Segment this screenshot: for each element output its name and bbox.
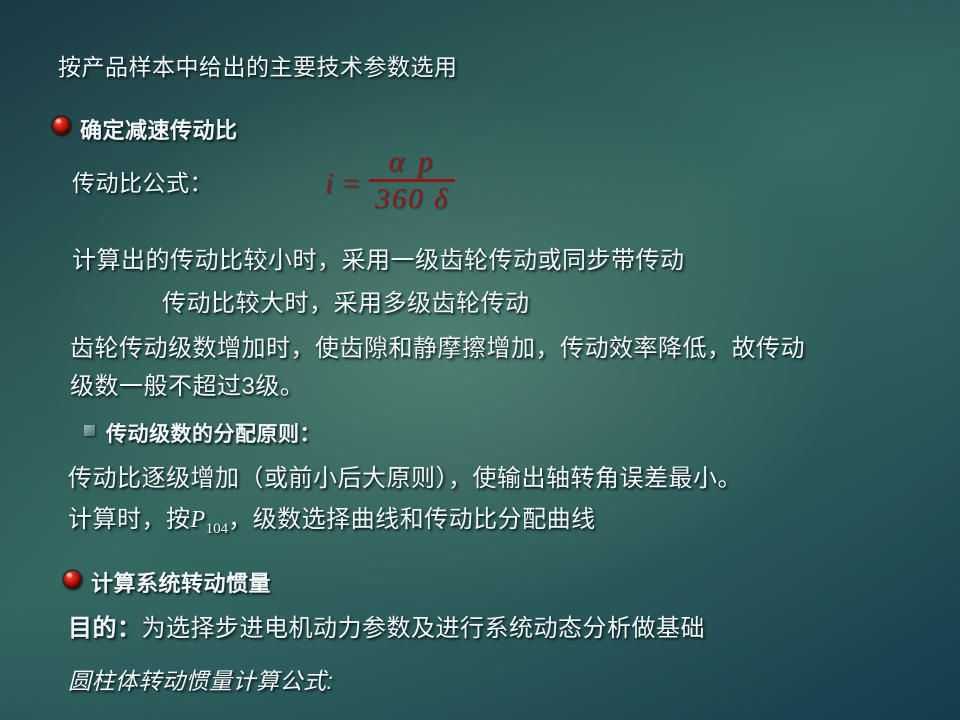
presentation-slide: 按产品样本中给出的主要技术参数选用 确定减速传动比 传动比公式： i = α p… <box>0 0 960 720</box>
section-1-line-3: 齿轮传动级数增加时，使齿隙和静摩擦增加，传动效率降低，故传动 <box>70 328 805 363</box>
purpose-label: 目的： <box>68 615 142 642</box>
red-sphere-bullet-icon-1 <box>53 117 70 134</box>
sub-section-heading: 传动级数的分配原则： <box>106 418 321 448</box>
sub-section-formula-line: 计算时，按P104，级数选择曲线和传动比分配曲线 <box>68 499 596 538</box>
formula-numerator: α p <box>383 146 442 179</box>
formula-line-subscript: 104 <box>206 521 229 537</box>
section-2-closing-line: 圆柱体转动惯量计算公式: <box>68 662 333 696</box>
formula-line-prefix: 计算时，按 <box>68 506 191 533</box>
sub-section-line-1: 传动比逐级增加（或前小后大原则），使输出轴转角误差最小。 <box>68 458 742 493</box>
section-1-line-2: 传动比较大时，采用多级齿轮传动 <box>162 283 530 318</box>
formula-line-variable: P <box>191 507 206 533</box>
formula-denominator: 360 δ <box>369 182 455 215</box>
red-sphere-bullet-icon-2 <box>64 571 81 588</box>
section-2-purpose-line: 目的：为选择步进电机动力参数及进行系统动态分析做基础 <box>68 608 705 643</box>
square-bullet-icon <box>84 425 95 436</box>
intro-line: 按产品样本中给出的主要技术参数选用 <box>58 48 458 82</box>
purpose-text: 为选择步进电机动力参数及进行系统动态分析做基础 <box>142 615 706 642</box>
section-1-line-4: 级数一般不超过3级。 <box>70 366 304 401</box>
section-2-heading: 计算系统转动惯量 <box>91 566 271 598</box>
formula-fraction: α p 360 δ <box>369 146 455 216</box>
formula-line-suffix: ，级数选择曲线和传动比分配曲线 <box>228 506 596 533</box>
transmission-ratio-formula: i = α p 360 δ <box>325 146 455 216</box>
section-1-line-1: 计算出的传动比较小时，采用一级齿轮传动或同步带传动 <box>72 240 685 275</box>
formula-left-hand-side: i = <box>325 163 369 199</box>
section-1-heading: 确定减速传动比 <box>80 113 238 145</box>
ratio-formula-label: 传动比公式： <box>72 164 213 198</box>
